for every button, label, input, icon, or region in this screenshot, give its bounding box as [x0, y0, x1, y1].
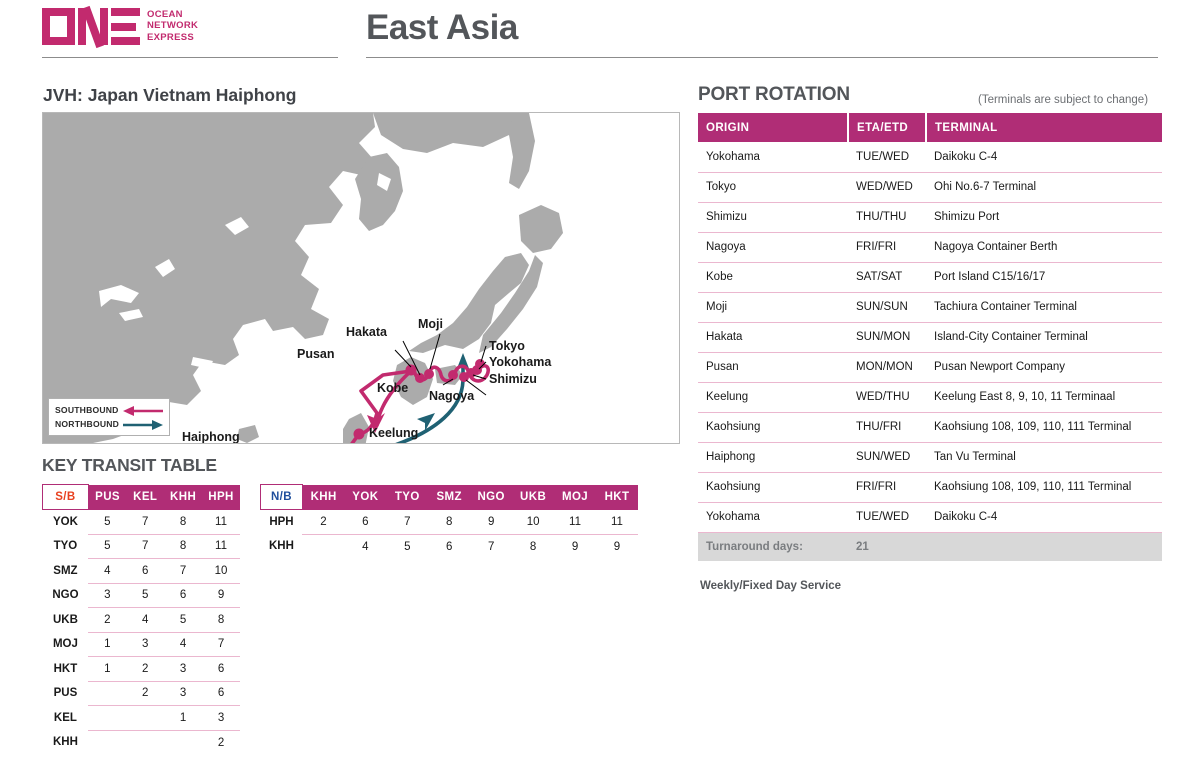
table-row: SMZ46710 [43, 559, 241, 584]
transit-nb-cell-smz: 6 [428, 534, 470, 559]
transit-nb-cell-ngo: 7 [470, 534, 512, 559]
port-rotation-cell-origin: Shimizu [698, 202, 848, 232]
transit-sb-row-origin: TYO [43, 534, 89, 559]
transit-nb-col-moj: MOJ [554, 485, 596, 510]
port-rotation-title: PORT ROTATION [698, 84, 850, 106]
table-row: YOK57811 [43, 510, 241, 535]
port-rotation-cell-origin: Kaohsiung [698, 472, 848, 502]
transit-sb-cell-pus: 3 [88, 583, 126, 608]
transit-sb-col-pus: PUS [88, 485, 126, 510]
turnaround-label: Turnaround days: [698, 532, 848, 561]
transit-nb-cell-hkt: 11 [596, 510, 638, 535]
transit-sb-cell-pus: 1 [88, 632, 126, 657]
transit-sb-cell-khh: 8 [164, 534, 202, 559]
transit-nb-col-ukb: UKB [512, 485, 554, 510]
port-rotation-cell-origin: Yokohama [698, 502, 848, 532]
map-label-shimizu: Shimizu [489, 372, 537, 386]
map-label-hakata: Hakata [346, 325, 388, 339]
port-rotation-cell-etaetd: SUN/WED [848, 442, 926, 472]
table-row: KaohsiungTHU/FRIKaohsiung 108, 109, 110,… [698, 412, 1162, 442]
table-row: HakataSUN/MONIsland-City Container Termi… [698, 322, 1162, 352]
route-map-svg: Pusan Hakata Moji Kobe Tokyo Yokohama Sh… [43, 113, 680, 444]
table-row: TYO57811 [43, 534, 241, 559]
legend-label-northbound: NORTHBOUND [55, 419, 121, 429]
table-row: NagoyaFRI/FRINagoya Container Berth [698, 232, 1162, 262]
port-rotation-cell-etaetd: SUN/MON [848, 322, 926, 352]
turnaround-spacer [926, 532, 1162, 561]
port-rotation-cell-terminal: Ohi No.6-7 Terminal [926, 172, 1162, 202]
port-rotation-cell-etaetd: TUE/WED [848, 502, 926, 532]
port-rotation-cell-etaetd: WED/WED [848, 172, 926, 202]
port-rotation-cell-origin: Keelung [698, 382, 848, 412]
map-label-haiphong: Haiphong [182, 430, 240, 444]
transit-nb-cell-moj: 9 [554, 534, 596, 559]
transit-sb-cell-hph: 7 [202, 632, 240, 657]
table-row: KHH4567899 [261, 534, 639, 559]
port-rotation-cell-etaetd: WED/THU [848, 382, 926, 412]
port-rotation-cell-origin: Nagoya [698, 232, 848, 262]
map-legend: SOUTHBOUND NORTHBOUND [48, 398, 170, 436]
table-row: HKT1236 [43, 657, 241, 682]
port-rotation-cell-terminal: Island-City Container Terminal [926, 322, 1162, 352]
transit-sb-cell-kel: 3 [126, 632, 164, 657]
port-rotation-cell-origin: Moji [698, 292, 848, 322]
transit-nb-cell-ukb: 10 [512, 510, 554, 535]
logo-tagline-line-3: EXPRESS [147, 32, 198, 44]
transit-sb-cell-hph: 11 [202, 510, 240, 535]
transit-sb-header-row: S/B PUS KEL KHH HPH [43, 485, 241, 510]
logo-letter-n [78, 8, 108, 45]
turnaround-row: Turnaround days:21 [698, 532, 1162, 561]
one-logo: OCEAN NETWORK EXPRESS [42, 8, 198, 45]
transit-nb-cell-tyo: 5 [386, 534, 428, 559]
table-row: HPH26789101111 [261, 510, 639, 535]
transit-sb-cell-khh: 3 [164, 681, 202, 706]
port-rotation-cell-terminal: Port Island C15/16/17 [926, 262, 1162, 292]
map-label-yokohama: Yokohama [489, 355, 552, 369]
transit-sb-cell-kel: 2 [126, 681, 164, 706]
port-rotation-cell-terminal: Tan Vu Terminal [926, 442, 1162, 472]
transit-sb-cell-pus: 2 [88, 608, 126, 633]
table-row: YokohamaTUE/WEDDaikoku C-4 [698, 142, 1162, 172]
transit-sb-cell-kel: 7 [126, 510, 164, 535]
transit-sb-cell-kel: 7 [126, 534, 164, 559]
transit-sb-cell-pus: 1 [88, 657, 126, 682]
port-rotation-cell-terminal: Kaohsiung 108, 109, 110, 111 Terminal [926, 412, 1162, 442]
port-dot-kobe [448, 370, 458, 380]
transit-sb-row-origin: MOJ [43, 632, 89, 657]
transit-nb-col-ngo: NGO [470, 485, 512, 510]
port-rotation-header-row: ORIGIN ETA/ETD TERMINAL [698, 113, 1162, 142]
logo-letter-o [42, 8, 75, 45]
transit-sb-cell-hph: 10 [202, 559, 240, 584]
transit-sb-row-origin: PUS [43, 681, 89, 706]
map-label-keelung: Keelung [369, 426, 418, 440]
transit-sb-cell-hph: 6 [202, 681, 240, 706]
transit-nb-cell-hkt: 9 [596, 534, 638, 559]
transit-sb-cell-hph: 2 [202, 730, 240, 755]
table-row: KHH2 [43, 730, 241, 755]
transit-sb-cell-pus [88, 730, 126, 755]
port-rotation-cell-terminal: Keelung East 8, 9, 10, 11 Terminaal [926, 382, 1162, 412]
route-map: Pusan Hakata Moji Kobe Tokyo Yokohama Sh… [42, 112, 680, 444]
transit-sb-row-origin: KEL [43, 706, 89, 731]
transit-sb-cell-pus: 5 [88, 534, 126, 559]
transit-sb-cell-khh: 4 [164, 632, 202, 657]
page-title: East Asia [366, 8, 518, 48]
port-rotation-cell-terminal: Shimizu Port [926, 202, 1162, 232]
transit-nb-corner: N/B [261, 485, 303, 510]
table-row: PusanMON/MONPusan Newport Company [698, 352, 1162, 382]
port-rotation-cell-etaetd: FRI/FRI [848, 472, 926, 502]
logo-tagline: OCEAN NETWORK EXPRESS [147, 9, 198, 45]
northbound-arrow-icon [121, 418, 163, 431]
port-rotation-cell-etaetd: FRI/FRI [848, 232, 926, 262]
transit-sb-cell-hph: 3 [202, 706, 240, 731]
port-rotation-cell-terminal: Kaohsiung 108, 109, 110, 111 Terminal [926, 472, 1162, 502]
transit-sb-cell-kel: 5 [126, 583, 164, 608]
port-rotation-cell-etaetd: SUN/SUN [848, 292, 926, 322]
port-rotation-cell-origin: Pusan [698, 352, 848, 382]
transit-nb-row-origin: KHH [261, 534, 303, 559]
transit-nb-cell-ngo: 9 [470, 510, 512, 535]
transit-sb-cell-hph: 8 [202, 608, 240, 633]
transit-nb-cell-tyo: 7 [386, 510, 428, 535]
table-row: NGO3569 [43, 583, 241, 608]
port-rotation-cell-origin: Hakata [698, 322, 848, 352]
transit-sb-cell-kel [126, 706, 164, 731]
port-rotation-cell-terminal: Daikoku C-4 [926, 142, 1162, 172]
logo-tagline-line-2: NETWORK [147, 20, 198, 32]
legend-label-southbound: SOUTHBOUND [55, 405, 121, 415]
map-label-nagoya: Nagoya [429, 389, 475, 403]
table-row: KobeSAT/SATPort Island C15/16/17 [698, 262, 1162, 292]
port-rotation-col-terminal: TERMINAL [926, 113, 1162, 142]
port-rotation-cell-etaetd: THU/FRI [848, 412, 926, 442]
transit-nb-body: HPH26789101111KHH4567899 [261, 510, 639, 559]
port-dot-keelung [354, 429, 365, 440]
transit-table-northbound: N/B KHH YOK TYO SMZ NGO UKB MOJ HKT HPH2… [260, 484, 638, 559]
logo-tagline-line-1: OCEAN [147, 9, 198, 21]
port-rotation-cell-terminal: Nagoya Container Berth [926, 232, 1162, 262]
transit-sb-cell-khh: 7 [164, 559, 202, 584]
map-label-pusan: Pusan [297, 347, 335, 361]
one-wordmark-icon [42, 8, 140, 45]
transit-sb-cell-khh: 1 [164, 706, 202, 731]
port-rotation-note: (Terminals are subject to change) [978, 94, 1148, 106]
service-frequency-note: Weekly/Fixed Day Service [700, 580, 841, 592]
port-rotation-body: YokohamaTUE/WEDDaikoku C-4TokyoWED/WEDOh… [698, 142, 1162, 561]
table-row: KeelungWED/THUKeelung East 8, 9, 10, 11 … [698, 382, 1162, 412]
transit-sb-body: YOK57811TYO57811SMZ46710NGO3569UKB2458MO… [43, 510, 241, 755]
transit-sb-row-origin: NGO [43, 583, 89, 608]
legend-row-northbound: NORTHBOUND [55, 417, 163, 431]
port-rotation-cell-etaetd: TUE/WED [848, 142, 926, 172]
transit-nb-col-khh: KHH [302, 485, 344, 510]
key-transit-table-title: KEY TRANSIT TABLE [42, 455, 217, 476]
transit-sb-corner: S/B [43, 485, 89, 510]
port-rotation-cell-terminal: Pusan Newport Company [926, 352, 1162, 382]
transit-nb-cell-yok: 4 [344, 534, 386, 559]
transit-sb-cell-pus [88, 706, 126, 731]
transit-nb-cell-khh [302, 534, 344, 559]
port-rotation-cell-origin: Kobe [698, 262, 848, 292]
port-rotation-col-origin: ORIGIN [698, 113, 848, 142]
transit-sb-cell-kel [126, 730, 164, 755]
transit-sb-cell-khh: 5 [164, 608, 202, 633]
transit-sb-cell-hph: 11 [202, 534, 240, 559]
port-rotation-cell-terminal: Tachiura Container Terminal [926, 292, 1162, 322]
map-label-moji: Moji [418, 317, 443, 331]
port-rotation-cell-etaetd: SAT/SAT [848, 262, 926, 292]
table-row: KEL13 [43, 706, 241, 731]
transit-nb-col-smz: SMZ [428, 485, 470, 510]
transit-nb-cell-smz: 8 [428, 510, 470, 535]
port-rotation-cell-etaetd: MON/MON [848, 352, 926, 382]
transit-sb-col-khh: KHH [164, 485, 202, 510]
legend-row-southbound: SOUTHBOUND [55, 403, 163, 417]
transit-sb-row-origin: SMZ [43, 559, 89, 584]
transit-sb-cell-hph: 6 [202, 657, 240, 682]
table-row: PUS236 [43, 681, 241, 706]
table-row: UKB2458 [43, 608, 241, 633]
transit-sb-cell-khh: 3 [164, 657, 202, 682]
transit-nb-col-yok: YOK [344, 485, 386, 510]
port-rotation-col-etaetd: ETA/ETD [848, 113, 926, 142]
port-dot-moji [424, 369, 434, 379]
transit-sb-col-hph: HPH [202, 485, 240, 510]
logo-letter-e [111, 8, 140, 45]
header-divider-right [366, 57, 1158, 58]
map-label-kobe: Kobe [377, 381, 408, 395]
table-row: TokyoWED/WEDOhi No.6-7 Terminal [698, 172, 1162, 202]
transit-table-southbound: S/B PUS KEL KHH HPH YOK57811TYO57811SMZ4… [42, 484, 240, 755]
southbound-arrow-icon [121, 404, 163, 417]
transit-sb-cell-khh: 8 [164, 510, 202, 535]
port-rotation-cell-origin: Kaohsiung [698, 412, 848, 442]
transit-sb-cell-kel: 4 [126, 608, 164, 633]
transit-sb-row-origin: KHH [43, 730, 89, 755]
turnaround-value: 21 [848, 532, 926, 561]
table-row: ShimizuTHU/THUShimizu Port [698, 202, 1162, 232]
transit-sb-row-origin: HKT [43, 657, 89, 682]
table-row: YokohamaTUE/WEDDaikoku C-4 [698, 502, 1162, 532]
port-rotation-cell-etaetd: THU/THU [848, 202, 926, 232]
transit-nb-col-tyo: TYO [386, 485, 428, 510]
port-dot-pusan [406, 365, 417, 376]
port-rotation-table: ORIGIN ETA/ETD TERMINAL YokohamaTUE/WEDD… [698, 113, 1162, 561]
transit-sb-row-origin: UKB [43, 608, 89, 633]
transit-nb-cell-khh: 2 [302, 510, 344, 535]
transit-sb-cell-pus: 4 [88, 559, 126, 584]
transit-sb-row-origin: YOK [43, 510, 89, 535]
port-rotation-cell-origin: Tokyo [698, 172, 848, 202]
transit-nb-cell-moj: 11 [554, 510, 596, 535]
service-title: JVH: Japan Vietnam Haiphong [43, 85, 296, 106]
transit-nb-cell-yok: 6 [344, 510, 386, 535]
service-sheet-page: OCEAN NETWORK EXPRESS East Asia JVH: Jap… [0, 0, 1200, 759]
transit-sb-cell-pus [88, 681, 126, 706]
transit-nb-cell-ukb: 8 [512, 534, 554, 559]
transit-sb-cell-pus: 5 [88, 510, 126, 535]
transit-sb-col-kel: KEL [126, 485, 164, 510]
table-row: HaiphongSUN/WEDTan Vu Terminal [698, 442, 1162, 472]
port-rotation-cell-origin: Haiphong [698, 442, 848, 472]
transit-sb-cell-hph: 9 [202, 583, 240, 608]
port-rotation-cell-origin: Yokohama [698, 142, 848, 172]
transit-sb-cell-khh: 6 [164, 583, 202, 608]
page-header: OCEAN NETWORK EXPRESS East Asia [0, 0, 1200, 62]
table-row: KaohsiungFRI/FRIKaohsiung 108, 109, 110,… [698, 472, 1162, 502]
table-row: MojiSUN/SUNTachiura Container Terminal [698, 292, 1162, 322]
table-row: MOJ1347 [43, 632, 241, 657]
transit-nb-header-row: N/B KHH YOK TYO SMZ NGO UKB MOJ HKT [261, 485, 639, 510]
header-divider-left [42, 57, 338, 58]
transit-sb-cell-kel: 6 [126, 559, 164, 584]
transit-nb-col-hkt: HKT [596, 485, 638, 510]
transit-nb-row-origin: HPH [261, 510, 303, 535]
map-label-tokyo: Tokyo [489, 339, 525, 353]
transit-sb-cell-khh [164, 730, 202, 755]
transit-sb-cell-kel: 2 [126, 657, 164, 682]
port-rotation-cell-terminal: Daikoku C-4 [926, 502, 1162, 532]
